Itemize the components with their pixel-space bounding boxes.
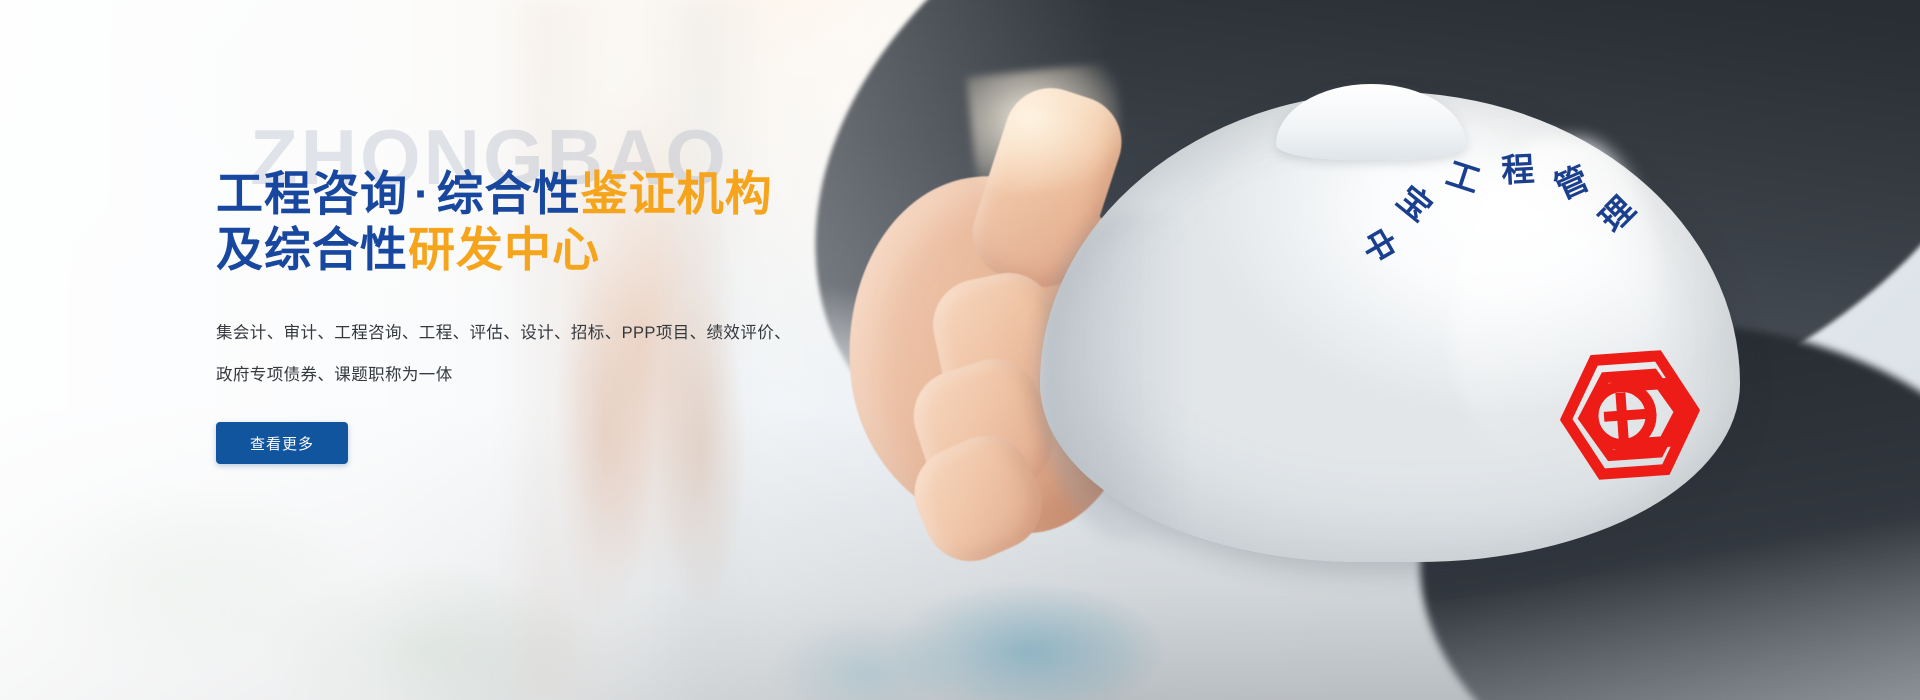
helmet-brand-char-1: 宝 (1385, 174, 1444, 233)
headline-line1-part1: 工程咨询 (216, 167, 408, 220)
hero-headline: 工程咨询·综合性鉴证机构 及综合性研发中心 (216, 166, 916, 278)
helmet-brand-char-0: 中 (1350, 217, 1407, 274)
helmet-brand-char-4: 管 (1544, 155, 1599, 210)
headline-separator-dot: · (408, 167, 437, 220)
helmet-brand-char-3: 程 (1496, 148, 1540, 192)
zhongbao-hexagon-logo (1556, 345, 1705, 484)
headline-line2-part1: 及综合性 (216, 223, 408, 276)
headline-line-1: 工程咨询·综合性鉴证机构 (216, 166, 916, 222)
headline-line2-part2: 研发中心 (408, 223, 600, 276)
headline-line-2: 及综合性研发中心 (216, 222, 916, 278)
hero-banner: 中宝工程管理 ZHONGBAO 工程咨询·综合性鉴 (0, 0, 1920, 700)
headline-line1-part3: 鉴证机构 (581, 167, 773, 220)
description-line-1: 集会计、审计、工程咨询、工程、评估、设计、招标、PPP项目、绩效评价、 (216, 312, 816, 354)
headline-line1-part2: 综合性 (437, 167, 581, 220)
hero-copy-block: ZHONGBAO 工程咨询·综合性鉴证机构 及综合性研发中心 集会计、审计、工程… (216, 118, 916, 464)
hero-description: 集会计、审计、工程咨询、工程、评估、设计、招标、PPP项目、绩效评价、 政府专项… (216, 312, 816, 396)
view-more-button[interactable]: 查看更多 (216, 422, 348, 464)
helmet-brand-char-2: 工 (1437, 151, 1490, 204)
description-line-2: 政府专项债券、课题职称为一体 (216, 354, 816, 396)
safety-helmet: 中宝工程管理 (1040, 92, 1740, 562)
